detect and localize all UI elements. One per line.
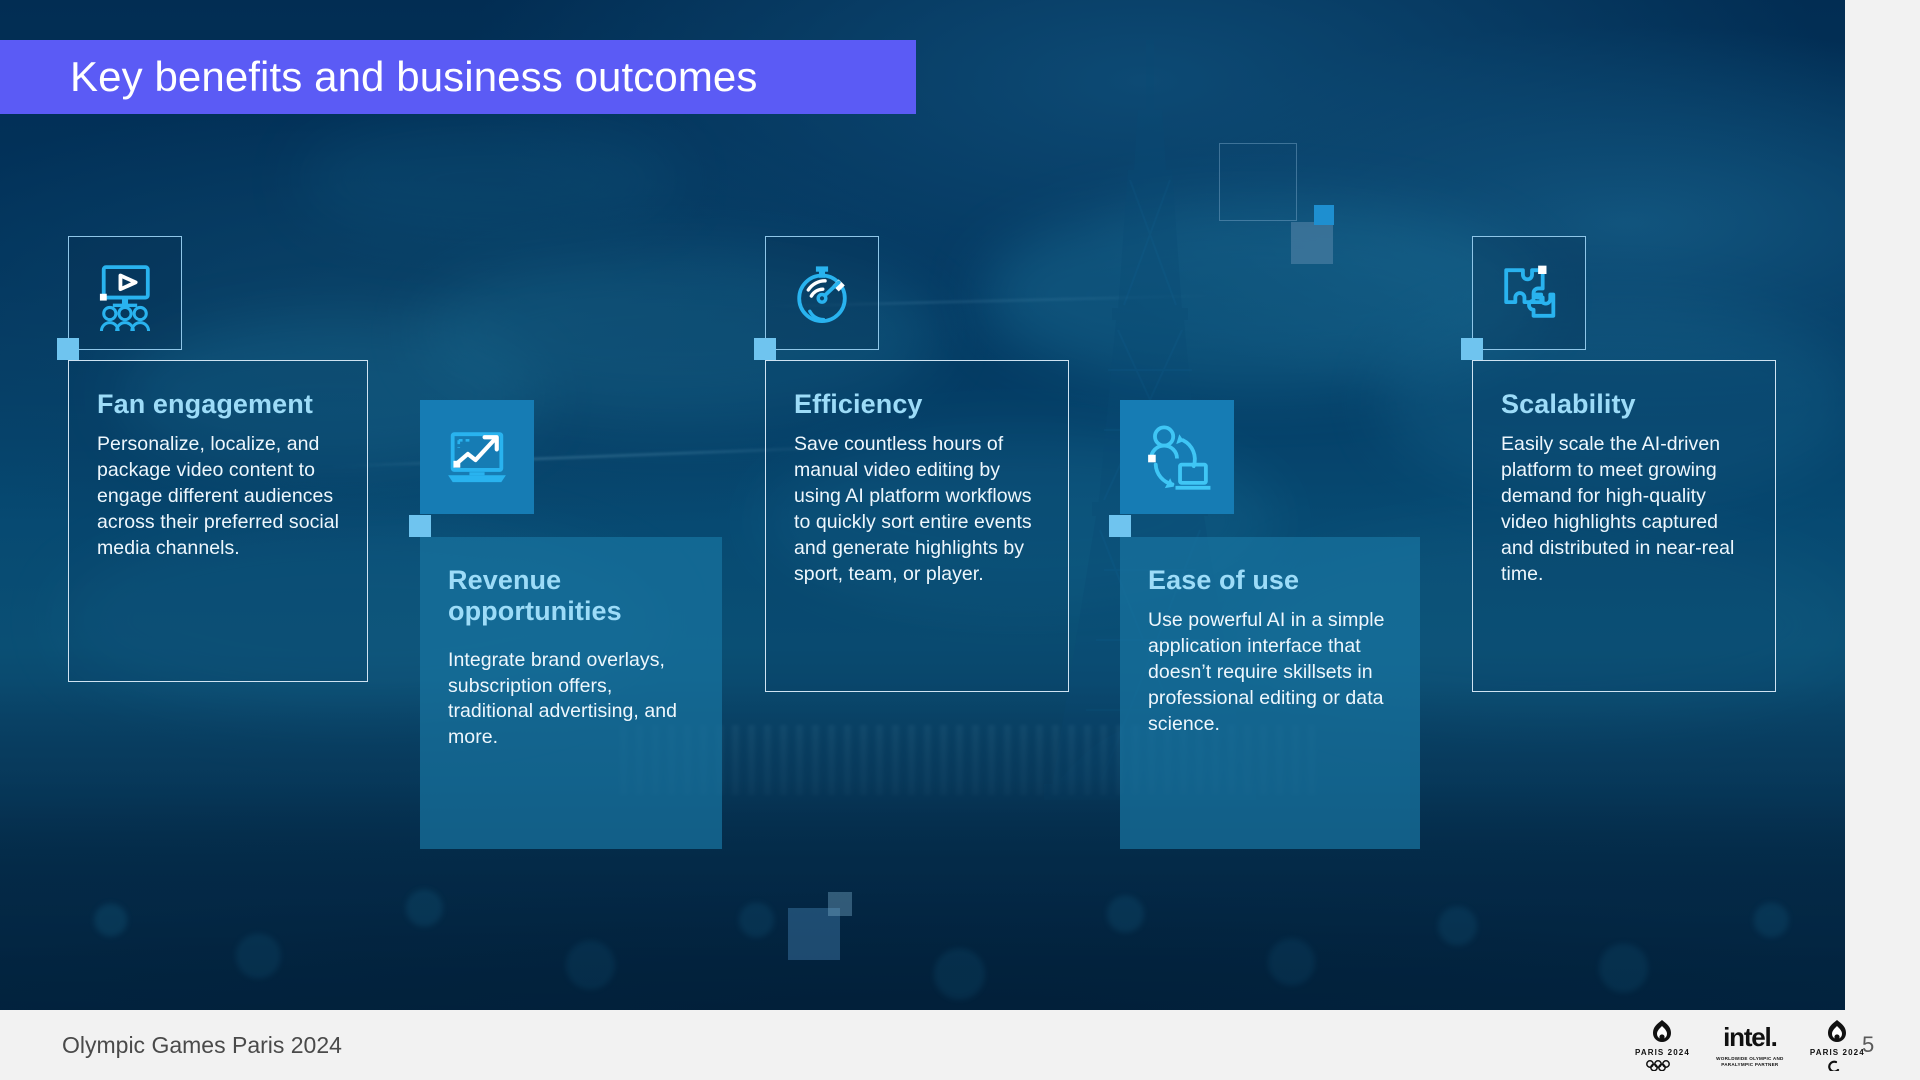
card-body: Save countless hours of manual video edi…	[794, 432, 1042, 588]
card-panel: Revenue opportunities Integrate brand ov…	[420, 537, 722, 849]
paris2024-flame-icon	[1817, 1019, 1857, 1045]
stopwatch-icon-box	[765, 236, 879, 350]
paris2024-olympic-logo: PARIS 2024	[1635, 1019, 1690, 1071]
cloud-decoration	[300, 120, 680, 240]
decorative-square-filled	[1291, 222, 1333, 264]
user-laptop-cycle-icon-box	[1120, 400, 1234, 514]
growth-chart-laptop-icon-box	[420, 400, 534, 514]
card-title: Fan engagement	[97, 389, 341, 420]
card-body: Personalize, localize, and package video…	[97, 432, 341, 562]
partner-logos: PARIS 2024 intel. WORLDWIDE OLYMPIC AND …	[1635, 1019, 1865, 1071]
puzzle-pieces-icon	[1491, 255, 1567, 331]
connector-notch	[1461, 338, 1483, 360]
growth-chart-laptop-icon	[439, 419, 515, 495]
page-number: 5	[1862, 1032, 1874, 1058]
card-panel: Ease of use Use powerful AI in a simple …	[1120, 537, 1420, 849]
intel-logo: intel. WORLDWIDE OLYMPIC AND PARALYMPIC …	[1704, 1022, 1796, 1068]
connector-notch	[754, 338, 776, 360]
card-title: Revenue opportunities	[448, 565, 696, 628]
user-laptop-cycle-icon	[1139, 419, 1215, 495]
right-margin	[1845, 0, 1920, 1010]
card-panel: Efficiency Save countless hours of manua…	[765, 360, 1069, 692]
footer-label: Olympic Games Paris 2024	[62, 1032, 342, 1059]
card-body: Easily scale the AI-driven platform to m…	[1501, 432, 1749, 588]
intel-tagline: WORLDWIDE OLYMPIC AND PARALYMPIC PARTNER	[1704, 1056, 1796, 1068]
card-title: Efficiency	[794, 389, 1042, 420]
card-body: Use powerful AI in a simple application …	[1148, 608, 1394, 738]
connector-notch	[1109, 515, 1131, 537]
video-audience-icon	[87, 255, 163, 331]
decorative-square-small	[828, 892, 852, 916]
decorative-square-accent	[1314, 205, 1334, 225]
card-title: Ease of use	[1148, 565, 1394, 596]
paris2024-paralympic-logo: PARIS 2024	[1810, 1019, 1865, 1071]
tree-texture	[0, 710, 1845, 1010]
paris2024-wordmark: PARIS 2024	[1635, 1048, 1690, 1057]
olympic-rings-icon	[1644, 1060, 1680, 1071]
paris2024-wordmark: PARIS 2024	[1810, 1048, 1865, 1057]
paris2024-flame-icon	[1642, 1019, 1682, 1045]
card-body: Integrate brand overlays, subscription o…	[448, 648, 696, 752]
puzzle-pieces-icon-box	[1472, 236, 1586, 350]
stopwatch-icon	[784, 255, 860, 331]
card-panel: Scalability Easily scale the AI-driven p…	[1472, 360, 1776, 692]
slide: Fan engagement Personalize, localize, an…	[0, 0, 1920, 1080]
slide-title-band: Key benefits and business outcomes	[0, 40, 916, 114]
agitos-paralympic-icon	[1822, 1060, 1852, 1071]
slide-footer: Olympic Games Paris 2024 PARIS 2024 in	[0, 1010, 1920, 1080]
card-panel: Fan engagement Personalize, localize, an…	[68, 360, 368, 682]
slide-canvas: Fan engagement Personalize, localize, an…	[0, 0, 1845, 1010]
page-title: Key benefits and business outcomes	[70, 53, 757, 101]
intel-wordmark: intel.	[1723, 1022, 1776, 1053]
card-title: Scalability	[1501, 389, 1749, 420]
decorative-square-outline	[1219, 143, 1297, 221]
connector-notch	[57, 338, 79, 360]
video-audience-icon-box	[68, 236, 182, 350]
connector-notch	[409, 515, 431, 537]
